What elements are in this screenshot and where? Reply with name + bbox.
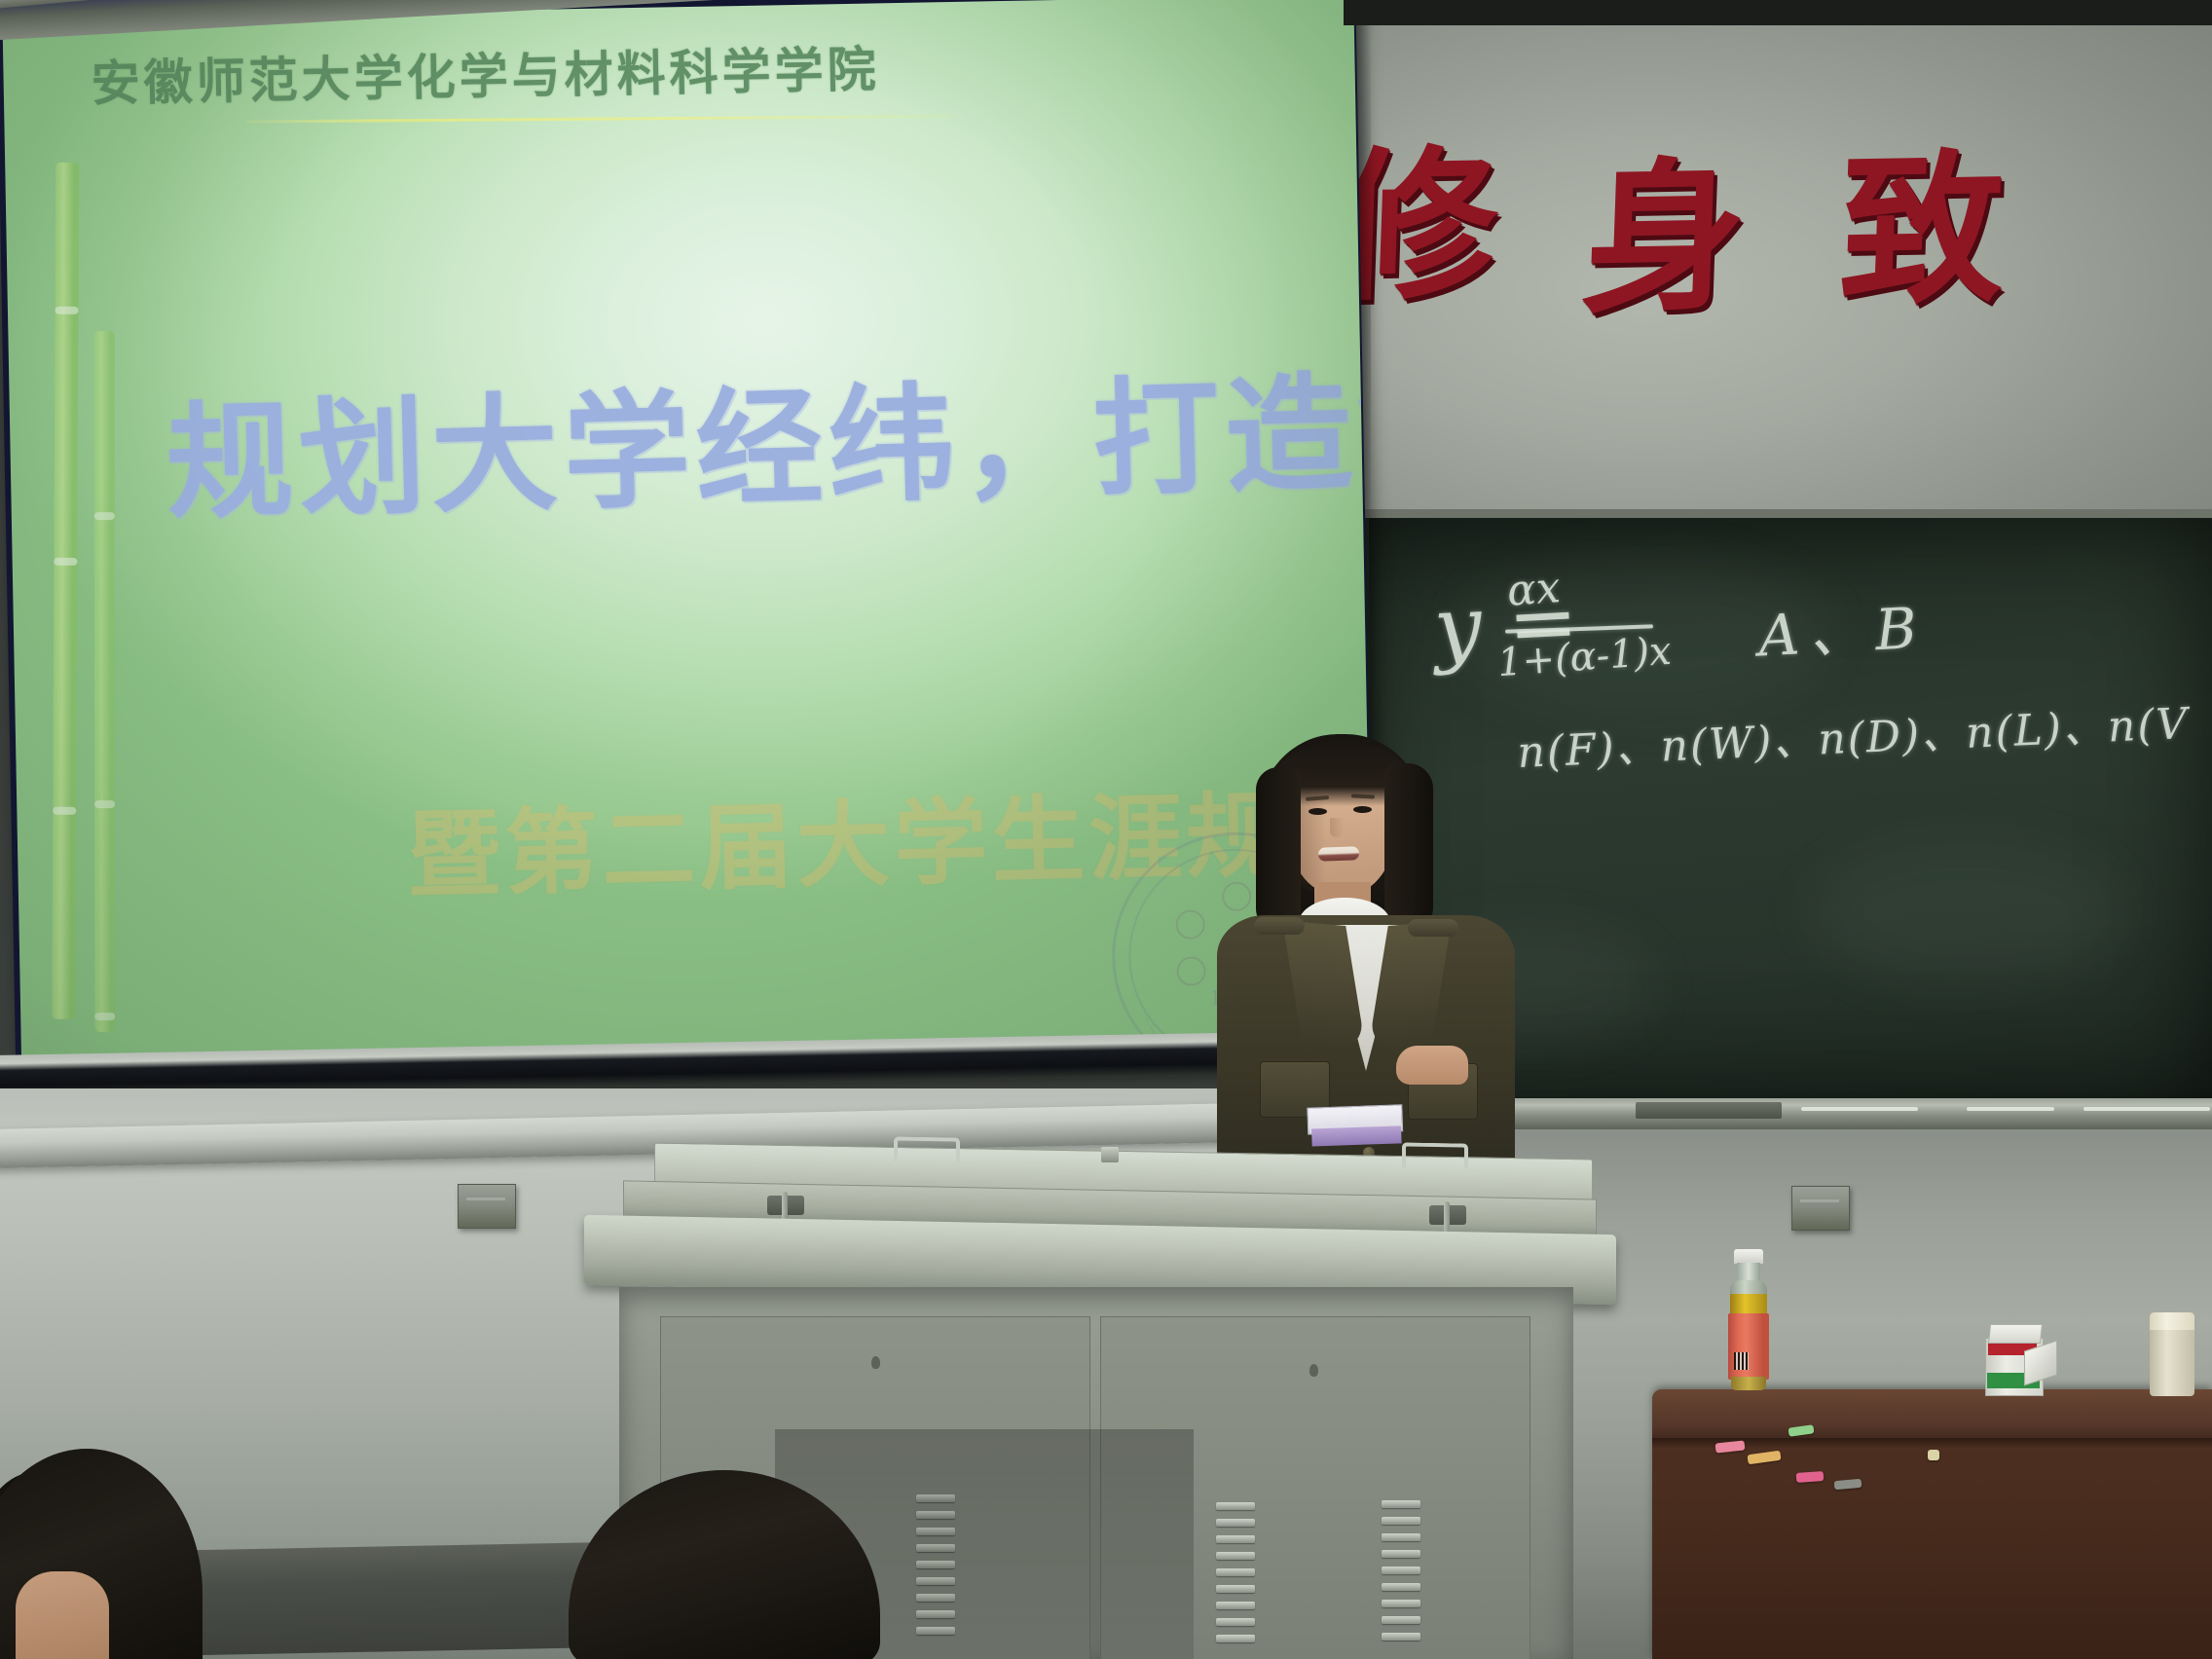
presenter-hands [1396, 1046, 1468, 1085]
blackboard-eraser[interactable] [1636, 1102, 1782, 1119]
chalk-piece-5[interactable] [1928, 1450, 1939, 1460]
wooden-desk [1652, 1389, 2212, 1659]
chalk-labels-ab: A、B [1756, 582, 1929, 673]
presenter-eye-left [1309, 808, 1327, 815]
lectern-hinge-right [1429, 1205, 1466, 1225]
papers-on-lectern[interactable] [1307, 1104, 1401, 1148]
wall-calligraphy-char-3: 致 [1837, 147, 2007, 313]
bottle-base [1731, 1377, 1766, 1390]
projection-screen: 安徽师范大学化学与材料科学学院 规划大学经纬，打造锦绣前程 暨第二届大学生涯规划… [2, 0, 1373, 1069]
jacket-epaulette-left [1254, 917, 1305, 935]
paper-folder [1311, 1125, 1402, 1146]
presenter-mouth [1318, 846, 1359, 861]
bottle-cap [1734, 1249, 1763, 1264]
lecture-hall-scene: 修 身 致 y = αx 1+(α-1)x A、B n(F)、n(W)、n(D)… [0, 0, 2212, 1659]
wall-calligraphy-char-1: 修 [1344, 143, 1500, 310]
ceiling-shadow-right [1344, 0, 2212, 25]
bottle-neck [1737, 1263, 1760, 1282]
lectern-handle-left[interactable] [894, 1136, 960, 1162]
junction-box-left [458, 1184, 516, 1229]
jacket-epaulette-right [1408, 919, 1458, 937]
bottle-label [1728, 1313, 1769, 1380]
audience-face-left [16, 1571, 109, 1659]
screen-vignette [2, 0, 1373, 1069]
presenter-eye-right [1353, 806, 1372, 813]
chalk-equation-numerator: αx [1505, 563, 1562, 616]
projection-screen-frame: 安徽师范大学化学与材料科学学院 规划大学经纬，打造锦绣前程 暨第二届大学生涯规划… [0, 0, 1375, 1088]
desk-top-surface [1652, 1389, 2212, 1442]
lectern-vent-3 [1216, 1502, 1255, 1651]
presenter-hair-left [1256, 767, 1301, 933]
drink-bottle[interactable] [1726, 1249, 1771, 1390]
chalk-box[interactable] [1985, 1324, 2051, 1394]
lectern-keyhole-right[interactable] [1309, 1364, 1318, 1377]
chalk-piece-4[interactable] [1796, 1471, 1825, 1483]
presenter-nose [1330, 818, 1343, 837]
lectern-handle-right[interactable] [1402, 1142, 1468, 1168]
junction-box-center [1791, 1186, 1850, 1231]
lectern-hinge-left [767, 1196, 804, 1215]
cylindrical-container[interactable] [2150, 1312, 2194, 1396]
chalk-box-lid [1988, 1324, 2043, 1344]
lectern-latch[interactable] [1101, 1147, 1119, 1162]
presenter-hair-right [1384, 763, 1433, 935]
wall-calligraphy-char-2: 身 [1579, 155, 1749, 321]
lectern-keyhole-left[interactable] [871, 1356, 880, 1369]
lectern-vent-4 [1382, 1500, 1420, 1649]
